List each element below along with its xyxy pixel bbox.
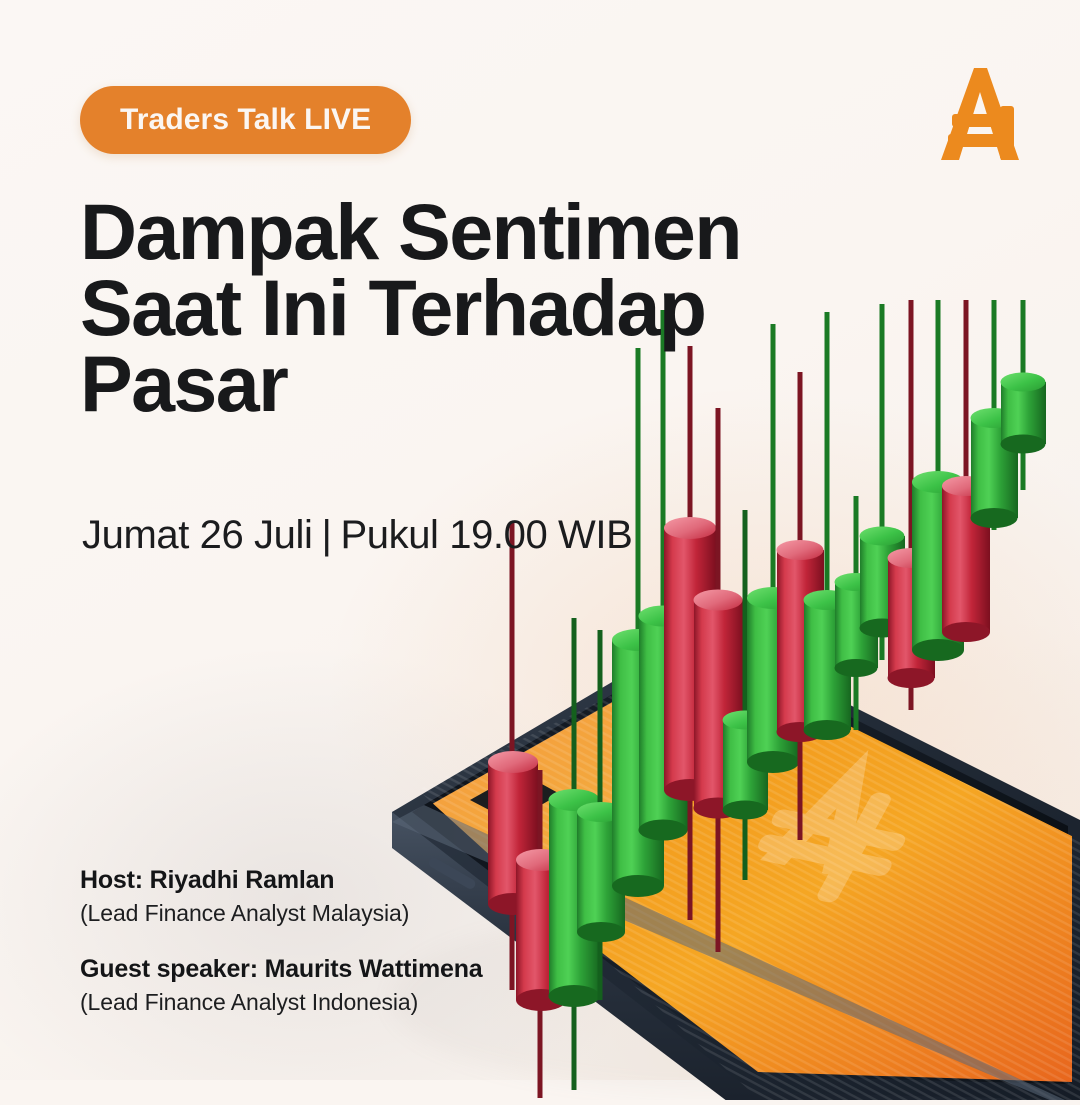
- page-title-line-1: Dampak Sentimen: [80, 194, 840, 270]
- poster-canvas: Traders Talk LIVE Dampak Sentimen Saat I…: [0, 0, 1080, 1080]
- page-title-line-2: Saat Ini Terhadap: [80, 270, 840, 346]
- schedule-line: Jumat 26 Juli|Pukul 19.00 WIB: [82, 513, 632, 558]
- austral-a-logo-icon: [930, 62, 1030, 166]
- schedule-date: Jumat 26 Juli: [82, 513, 312, 557]
- guest-speaker-role: (Lead Finance Analyst Indonesia): [80, 989, 600, 1016]
- speakers-block: Host: Riyadhi Ramlan (Lead Finance Analy…: [80, 866, 600, 1016]
- schedule-separator: |: [312, 513, 340, 558]
- live-badge[interactable]: Traders Talk LIVE: [80, 86, 411, 154]
- page-title-line-3: Pasar: [80, 346, 840, 422]
- guest-speaker-entry: Guest speaker: Maurits Wattimena (Lead F…: [80, 955, 600, 1016]
- host-name: Host: Riyadhi Ramlan: [80, 866, 600, 895]
- guest-speaker-name: Guest speaker: Maurits Wattimena: [80, 955, 600, 984]
- schedule-time: Pukul 19.00 WIB: [340, 513, 632, 557]
- live-badge-label: Traders Talk LIVE: [120, 103, 371, 137]
- brand-logo: [930, 62, 1030, 166]
- page-title: Dampak Sentimen Saat Ini Terhadap Pasar: [80, 194, 840, 421]
- host-entry: Host: Riyadhi Ramlan (Lead Finance Analy…: [80, 866, 600, 927]
- host-role: (Lead Finance Analyst Malaysia): [80, 900, 600, 927]
